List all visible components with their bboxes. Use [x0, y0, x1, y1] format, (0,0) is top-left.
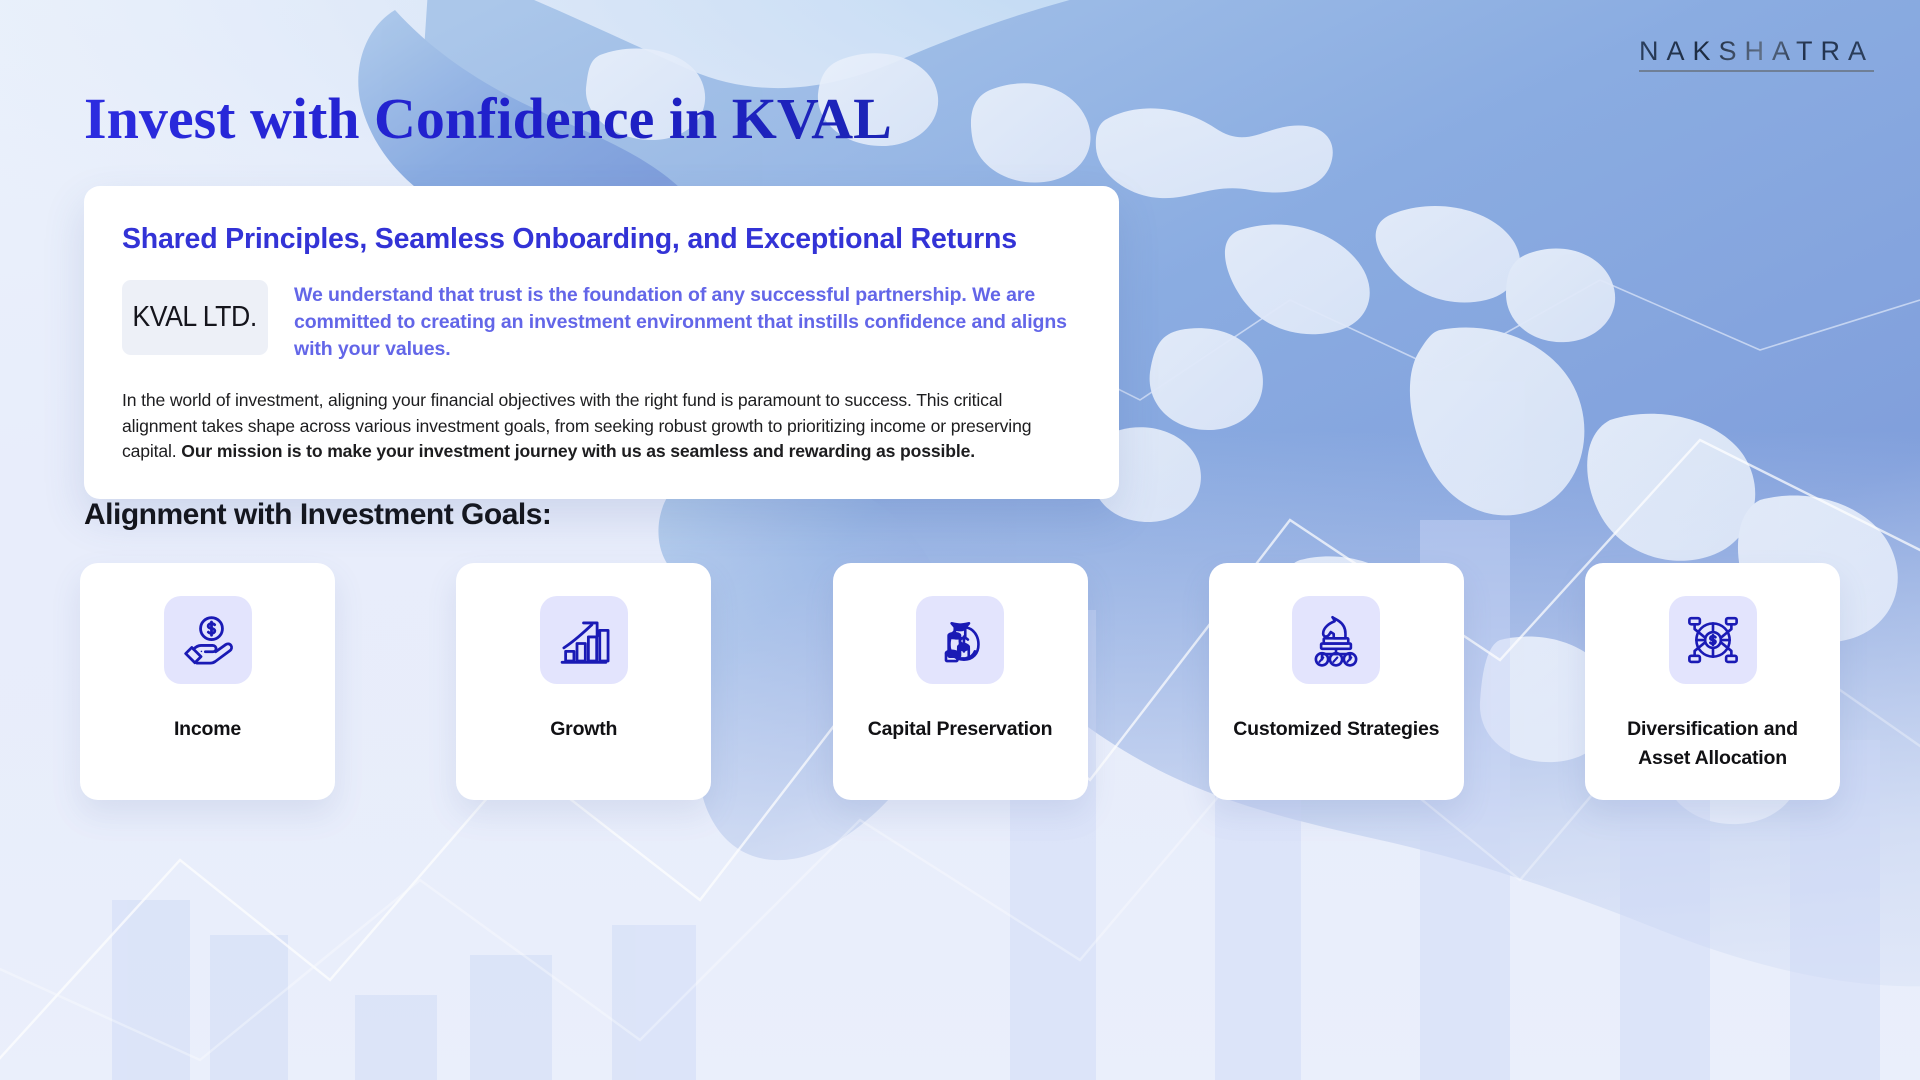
icon-tile: [164, 596, 252, 684]
page-title: Invest with Confidence in KVAL: [84, 88, 892, 151]
goals-card-row: Income Growth: [80, 563, 1840, 800]
goal-card-label: Diversification and Asset Allocation: [1599, 715, 1826, 774]
goal-card-label: Capital Preservation: [868, 715, 1053, 744]
kval-logo-box: KVAL LTD.: [122, 280, 268, 355]
diversification-network-icon: [1685, 612, 1741, 668]
brand-logo: NAKSHATRA: [1639, 38, 1874, 72]
goal-card-customized-strategies[interactable]: Customized Strategies: [1209, 563, 1464, 800]
goal-card-diversification[interactable]: Diversification and Asset Allocation: [1585, 563, 1840, 800]
goal-card-label: Income: [174, 715, 241, 744]
intro-card: Shared Principles, Seamless Onboarding, …: [84, 186, 1119, 499]
background-layer: [0, 0, 1920, 1080]
intro-card-title: Shared Principles, Seamless Onboarding, …: [122, 222, 1081, 256]
goal-card-label: Customized Strategies: [1233, 715, 1439, 744]
intro-lede-text: We understand that trust is the foundati…: [294, 280, 1081, 363]
intro-body-bold: Our mission is to make your investment j…: [181, 441, 975, 461]
goal-card-growth[interactable]: Growth: [456, 563, 711, 800]
brand-name: NAKSHATRA: [1639, 38, 1874, 72]
goals-section-heading: Alignment with Investment Goals:: [84, 498, 551, 532]
icon-tile: [1292, 596, 1380, 684]
goal-card-capital-preservation[interactable]: Capital Preservation: [833, 563, 1088, 800]
bar-chart-arrow-up-icon: [556, 612, 612, 668]
world-map-graphic: [0, 0, 1920, 1080]
slide-canvas: NAKSHATRA Invest with Confidence in KVAL…: [0, 0, 1920, 1080]
money-bag-coins-icon: [932, 612, 988, 668]
background-gradient: [0, 0, 1920, 1080]
goal-card-label: Growth: [550, 715, 617, 744]
icon-tile: [540, 596, 628, 684]
icon-tile: [1669, 596, 1757, 684]
hand-holding-coin-icon: [180, 612, 236, 668]
intro-body-text: In the world of investment, aligning you…: [122, 388, 1081, 465]
goal-card-income[interactable]: Income: [80, 563, 335, 800]
kval-logo-text: KVAL LTD.: [133, 301, 257, 334]
decorative-chart-lines: [0, 0, 1920, 1080]
intro-card-row: KVAL LTD. We understand that trust is th…: [122, 280, 1081, 363]
chess-knight-strategy-icon: [1308, 612, 1364, 668]
icon-tile: [916, 596, 1004, 684]
